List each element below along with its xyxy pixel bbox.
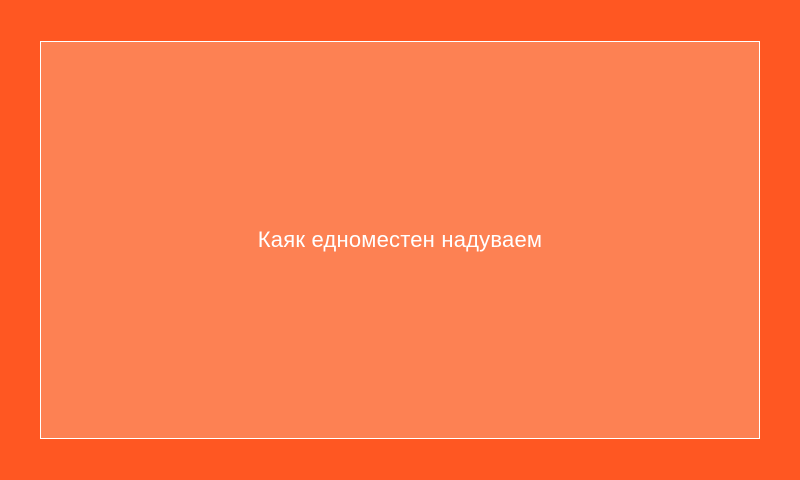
placeholder-frame: Каяк едноместен надуваем bbox=[40, 41, 760, 439]
placeholder-caption: Каяк едноместен надуваем bbox=[258, 227, 542, 253]
image-placeholder-canvas: Каяк едноместен надуваем bbox=[0, 0, 800, 480]
